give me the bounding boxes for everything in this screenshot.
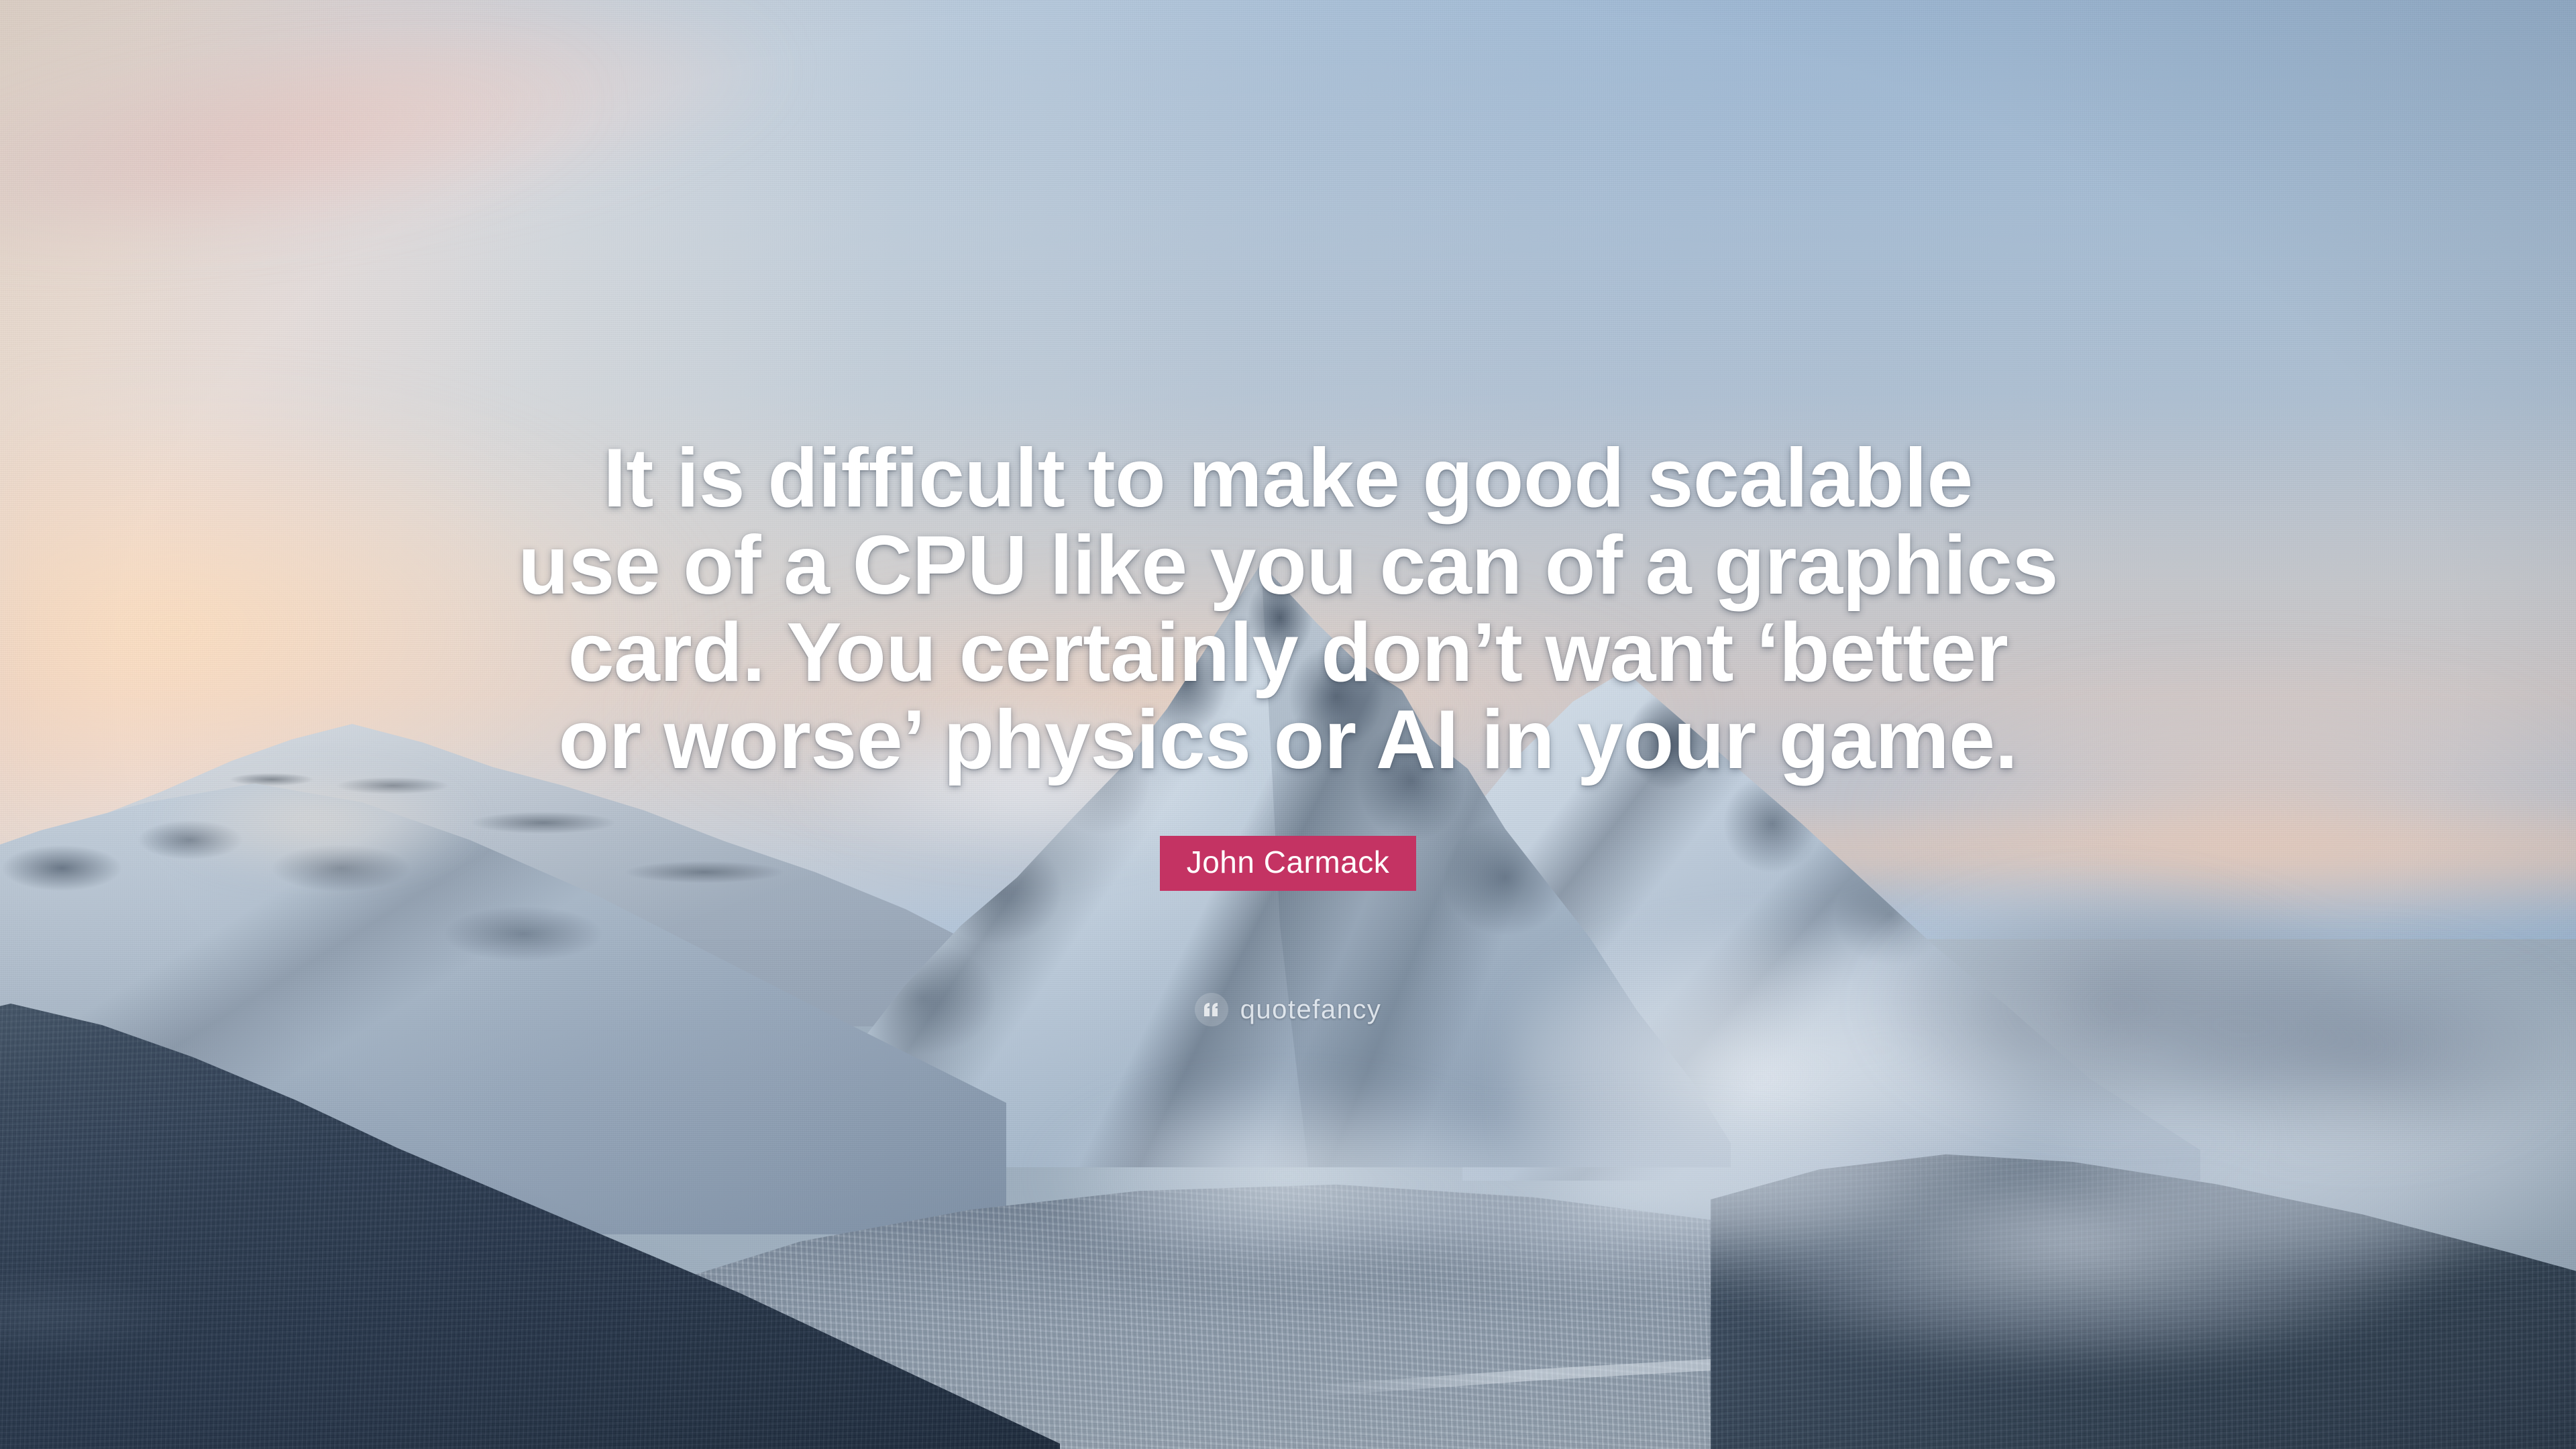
quote-line-1: It is difficult to make good scalable — [376, 435, 2200, 522]
cloud-low-center — [1006, 1046, 2012, 1328]
quote-image-scene: It is difficult to make good scalable us… — [0, 0, 2576, 1449]
author-attribution: John Carmack — [1160, 836, 1417, 891]
quotefancy-brand-text: quotefancy — [1240, 995, 1382, 1025]
quote-line-4: or worse’ physics or AI in your game. — [376, 696, 2200, 784]
quote-line-3: card. You certainly don’t want ‘better — [376, 609, 2200, 696]
quotefancy-watermark[interactable]: quotefancy — [1195, 993, 1382, 1026]
quote-text: It is difficult to make good scalable us… — [376, 435, 2200, 784]
author-name-badge[interactable]: John Carmack — [1160, 836, 1417, 891]
quote-line-2: use of a CPU like you can of a graphics — [376, 522, 2200, 609]
quote-mark-icon — [1195, 993, 1228, 1026]
